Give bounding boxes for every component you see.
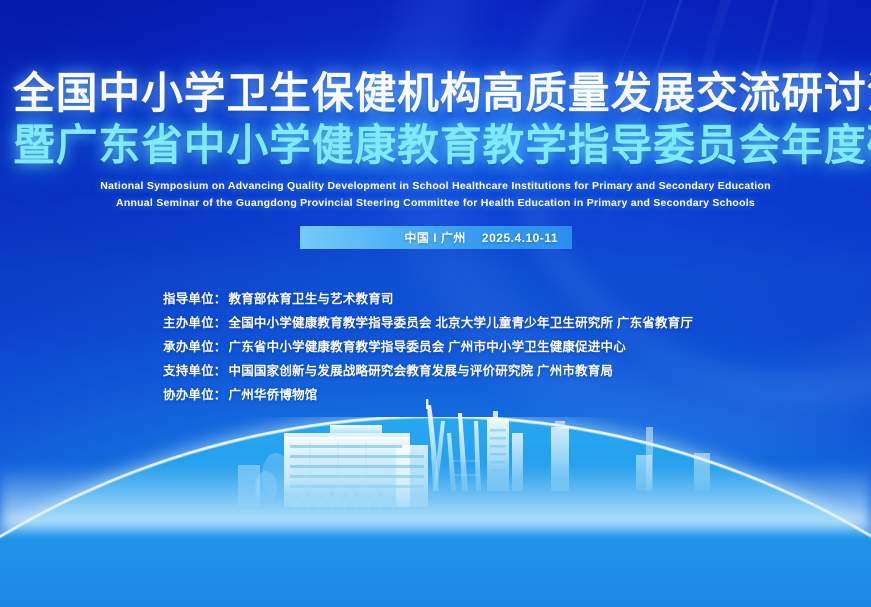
banner-location: 中国 I 广州 (404, 229, 466, 246)
organizer-label: 指导单位： (163, 288, 227, 307)
organizer-row: 指导单位： 教育部体育卫生与艺术教育司 (163, 288, 693, 312)
poster-subtitle: National Symposium on Advancing Quality … (0, 178, 871, 211)
date-location-banner: 中国 I 广州 2025.4.10-11 (300, 226, 572, 249)
title-line-1: 全国中小学卫生保健机构高质量发展交流研讨活动 (13, 72, 858, 117)
organizer-label: 支持单位： (163, 360, 227, 379)
banner-date: 2025.4.10-11 (482, 231, 558, 245)
organizer-value: 中国国家创新与发展战略研究会教育发展与评价研究院 广州市教育局 (229, 360, 614, 379)
organizer-value: 全国中小学健康教育教学指导委员会 北京大学儿童青少年卫生研究所 广东省教育厅 (229, 312, 694, 331)
horizon-line (0, 417, 871, 607)
organizer-label: 主办单位： (163, 312, 227, 331)
organizer-row: 主办单位： 全国中小学健康教育教学指导委员会 北京大学儿童青少年卫生研究所 广东… (163, 312, 693, 336)
organizer-row: 支持单位： 中国国家创新与发展战略研究会教育发展与评价研究院 广州市教育局 (163, 360, 693, 384)
organizer-row: 承办单位： 广东省中小学健康教育教学指导委员会 广州市中小学卫生健康促进中心 (163, 336, 693, 360)
subtitle-line-1: National Symposium on Advancing Quality … (0, 178, 871, 195)
poster-headline: 全国中小学卫生保健机构高质量发展交流研讨活动 暨广东省中小学健康教育教学指导委员… (0, 72, 871, 168)
conference-poster: 全国中小学卫生保健机构高质量发展交流研讨活动 暨广东省中小学健康教育教学指导委员… (0, 0, 871, 607)
organizer-list: 指导单位： 教育部体育卫生与艺术教育司 主办单位： 全国中小学健康教育教学指导委… (163, 288, 693, 408)
title-line-2: 暨广东省中小学健康教育教学指导委员会年度研讨活动 (13, 124, 858, 169)
organizer-label: 协办单位： (163, 384, 227, 403)
ground-arc (0, 417, 871, 607)
organizer-label: 承办单位： (163, 336, 227, 355)
organizer-value: 广东省中小学健康教育教学指导委员会 广州市中小学卫生健康促进中心 (229, 336, 626, 355)
organizer-row: 协办单位： 广州华侨博物馆 (163, 384, 693, 408)
subtitle-line-2: Annual Seminar of the Guangdong Provinci… (0, 195, 871, 212)
organizer-value: 教育部体育卫生与艺术教育司 (229, 288, 394, 307)
organizer-value: 广州华侨博物馆 (229, 384, 318, 403)
